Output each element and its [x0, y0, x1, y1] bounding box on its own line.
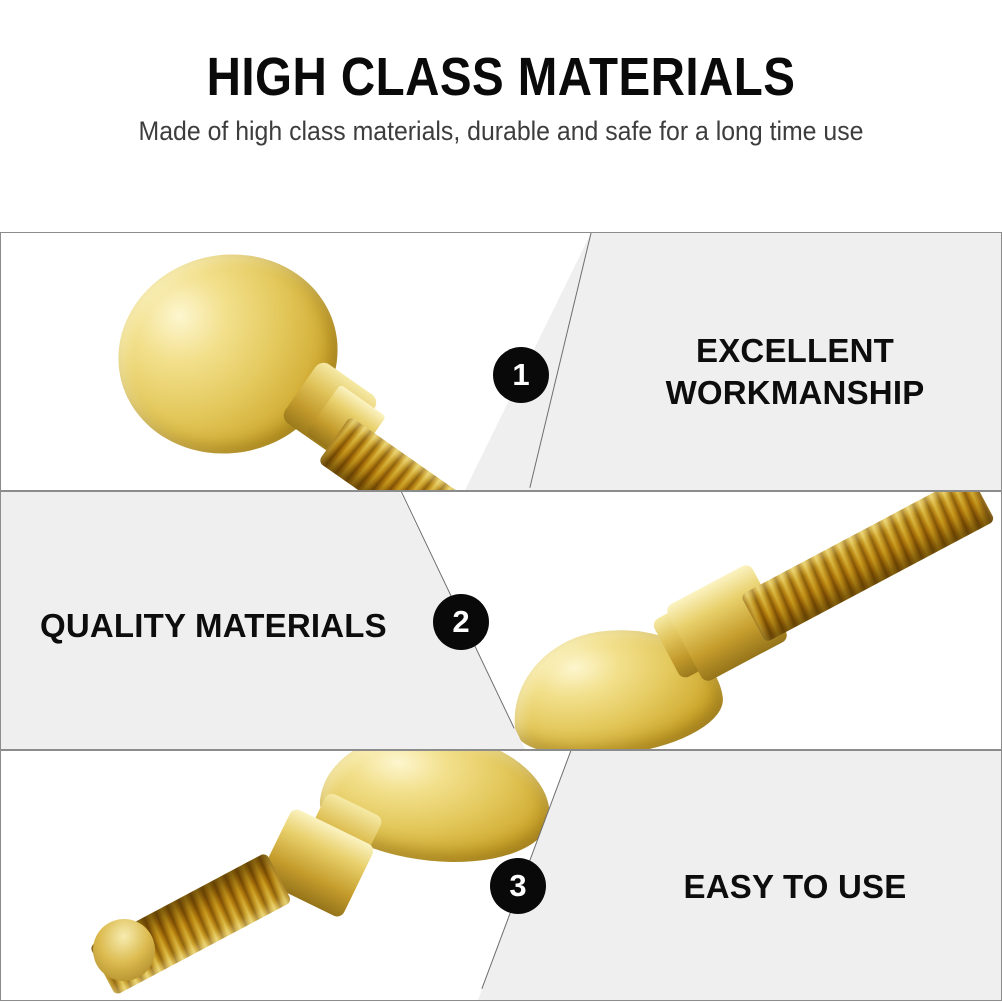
step-badge-1: 1 — [493, 347, 549, 403]
product-feature-infographic: HIGH CLASS MATERIALS Made of high class … — [0, 0, 1002, 1002]
gold-thumb-screw-icon — [481, 492, 1001, 749]
header: HIGH CLASS MATERIALS Made of high class … — [0, 0, 1002, 232]
feature-label-2: QUALITY MATERIALS — [40, 605, 420, 647]
feature-label-3: EASY TO USE — [600, 866, 990, 908]
feature-label-1: EXCELLENT WORKMANSHIP — [600, 330, 990, 414]
page-subtitle: Made of high class materials, durable an… — [40, 114, 962, 148]
step-badge-3: 3 — [490, 858, 546, 914]
gold-thumb-screw-icon — [86, 233, 506, 490]
step-badge-2: 2 — [433, 594, 489, 650]
screw-threaded-shaft — [740, 492, 995, 643]
page-title: HIGH CLASS MATERIALS — [60, 48, 942, 106]
